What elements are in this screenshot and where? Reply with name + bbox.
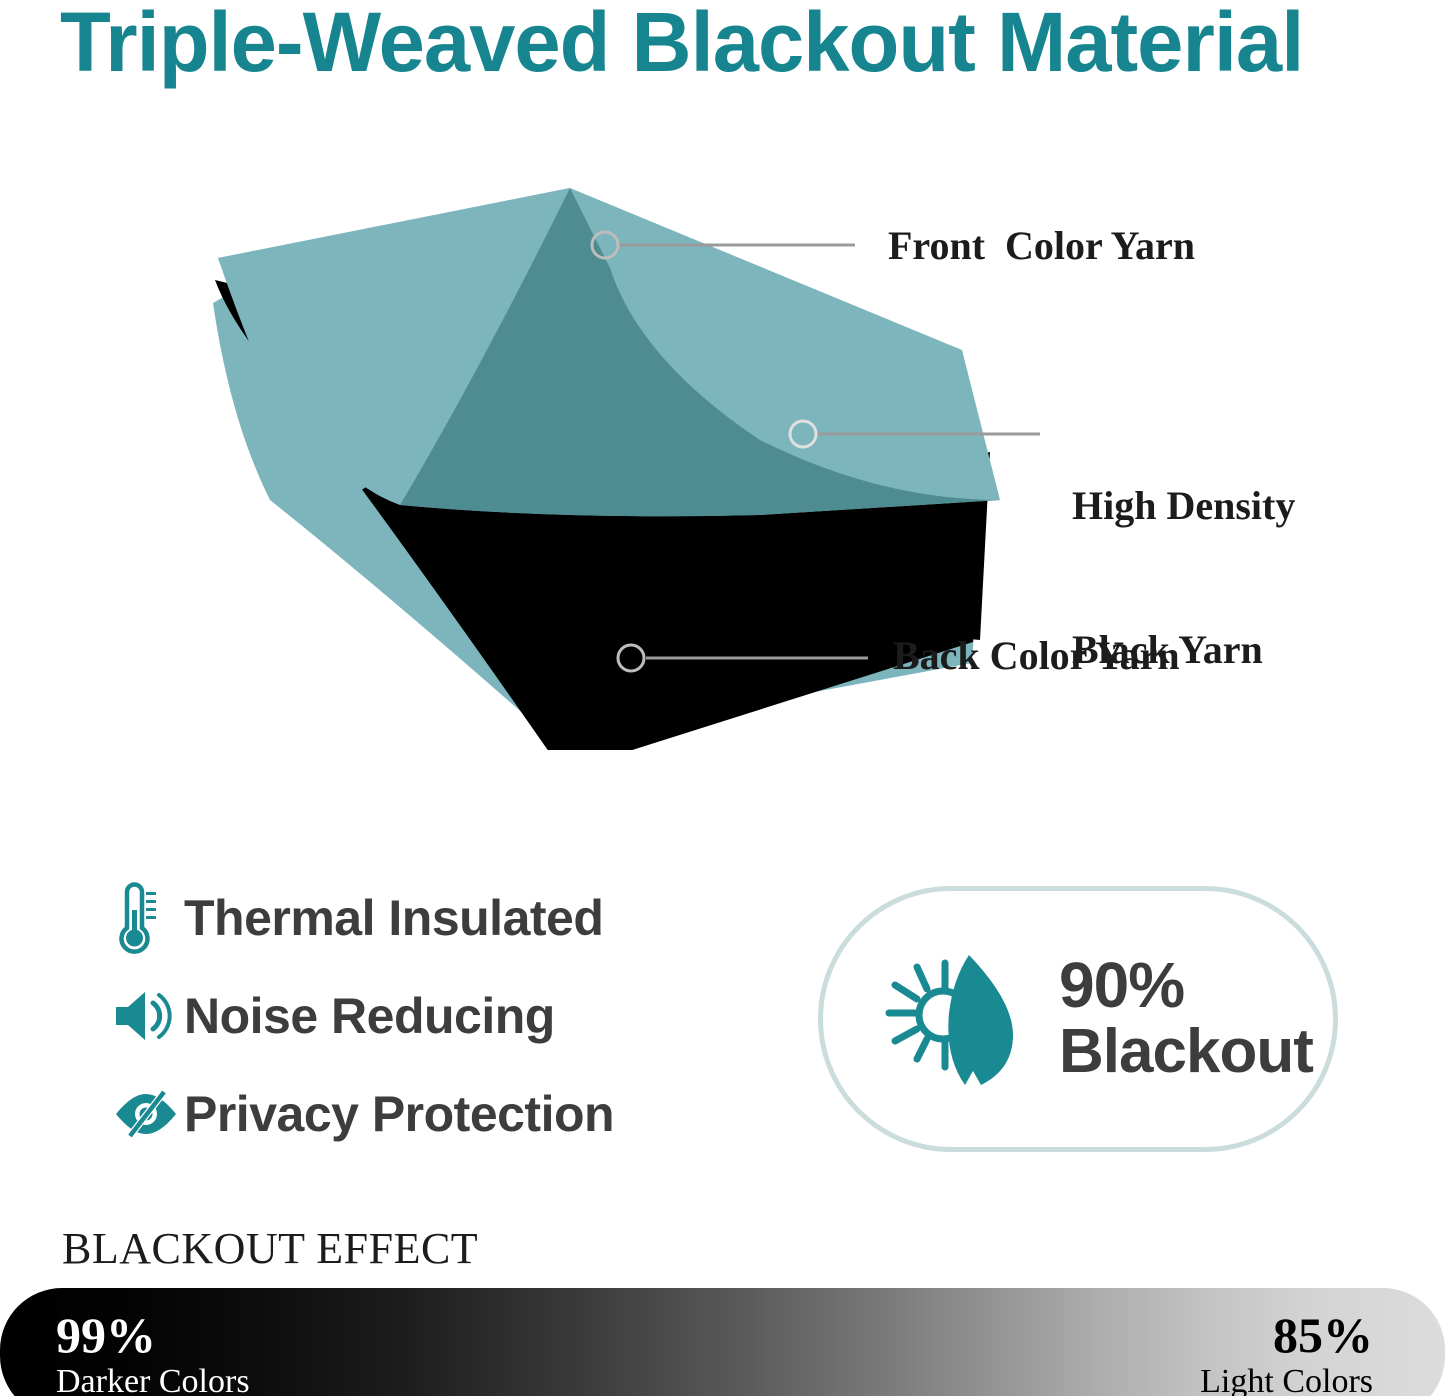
darker-colors-label: Darker Colors — [56, 1362, 250, 1396]
feature-item-noise-reducing: Noise Reducing — [112, 974, 752, 1058]
eye-off-icon — [112, 1088, 184, 1140]
badge-percent: 90% — [1059, 949, 1184, 1021]
sun-blocked-icon — [863, 939, 1043, 1099]
label-high-density-black-yarn: High Density Black Yarn — [1072, 386, 1295, 770]
page-title: Triple-Weaved Blackout Material — [60, 0, 1387, 88]
infographic-page: Triple-Weaved Blackout Material — [0, 0, 1445, 1396]
front-color-yarn-sheet — [218, 188, 1000, 516]
feature-label-privacy-protection: Privacy Protection — [184, 1086, 614, 1142]
label-back-color-yarn: Back Color Yarn — [893, 632, 1180, 680]
badge-text-block: 90% Blackout — [1059, 952, 1333, 1086]
feature-item-thermal-insulated: Thermal Insulated — [112, 876, 752, 960]
blackout-effect-right-value: 85% Light Colors — [1200, 1308, 1373, 1396]
label-high-density-line1: High Density — [1072, 482, 1295, 530]
feature-list: Thermal Insulated Noise Reducing — [112, 876, 752, 1170]
feature-label-thermal-insulated: Thermal Insulated — [184, 890, 603, 946]
label-front-color-yarn: Front Color Yarn — [888, 222, 1195, 270]
light-colors-label: Light Colors — [1200, 1362, 1373, 1396]
feature-label-noise-reducing: Noise Reducing — [184, 988, 555, 1044]
thermometer-icon — [112, 880, 184, 956]
blackout-effect-heading: BLACKOUT EFFECT — [62, 1224, 478, 1274]
blackout-effect-gradient-bar: 99% Darker Colors 85% Light Colors — [0, 1288, 1445, 1396]
badge-word: Blackout — [1059, 1017, 1313, 1086]
darker-colors-percent: 99% — [56, 1308, 250, 1362]
blackout-effect-left-value: 99% Darker Colors — [56, 1308, 250, 1396]
speaker-icon — [112, 987, 184, 1045]
blackout-badge: 90% Blackout — [818, 886, 1338, 1152]
feature-item-privacy-protection: Privacy Protection — [112, 1072, 752, 1156]
light-colors-percent: 85% — [1200, 1308, 1373, 1362]
